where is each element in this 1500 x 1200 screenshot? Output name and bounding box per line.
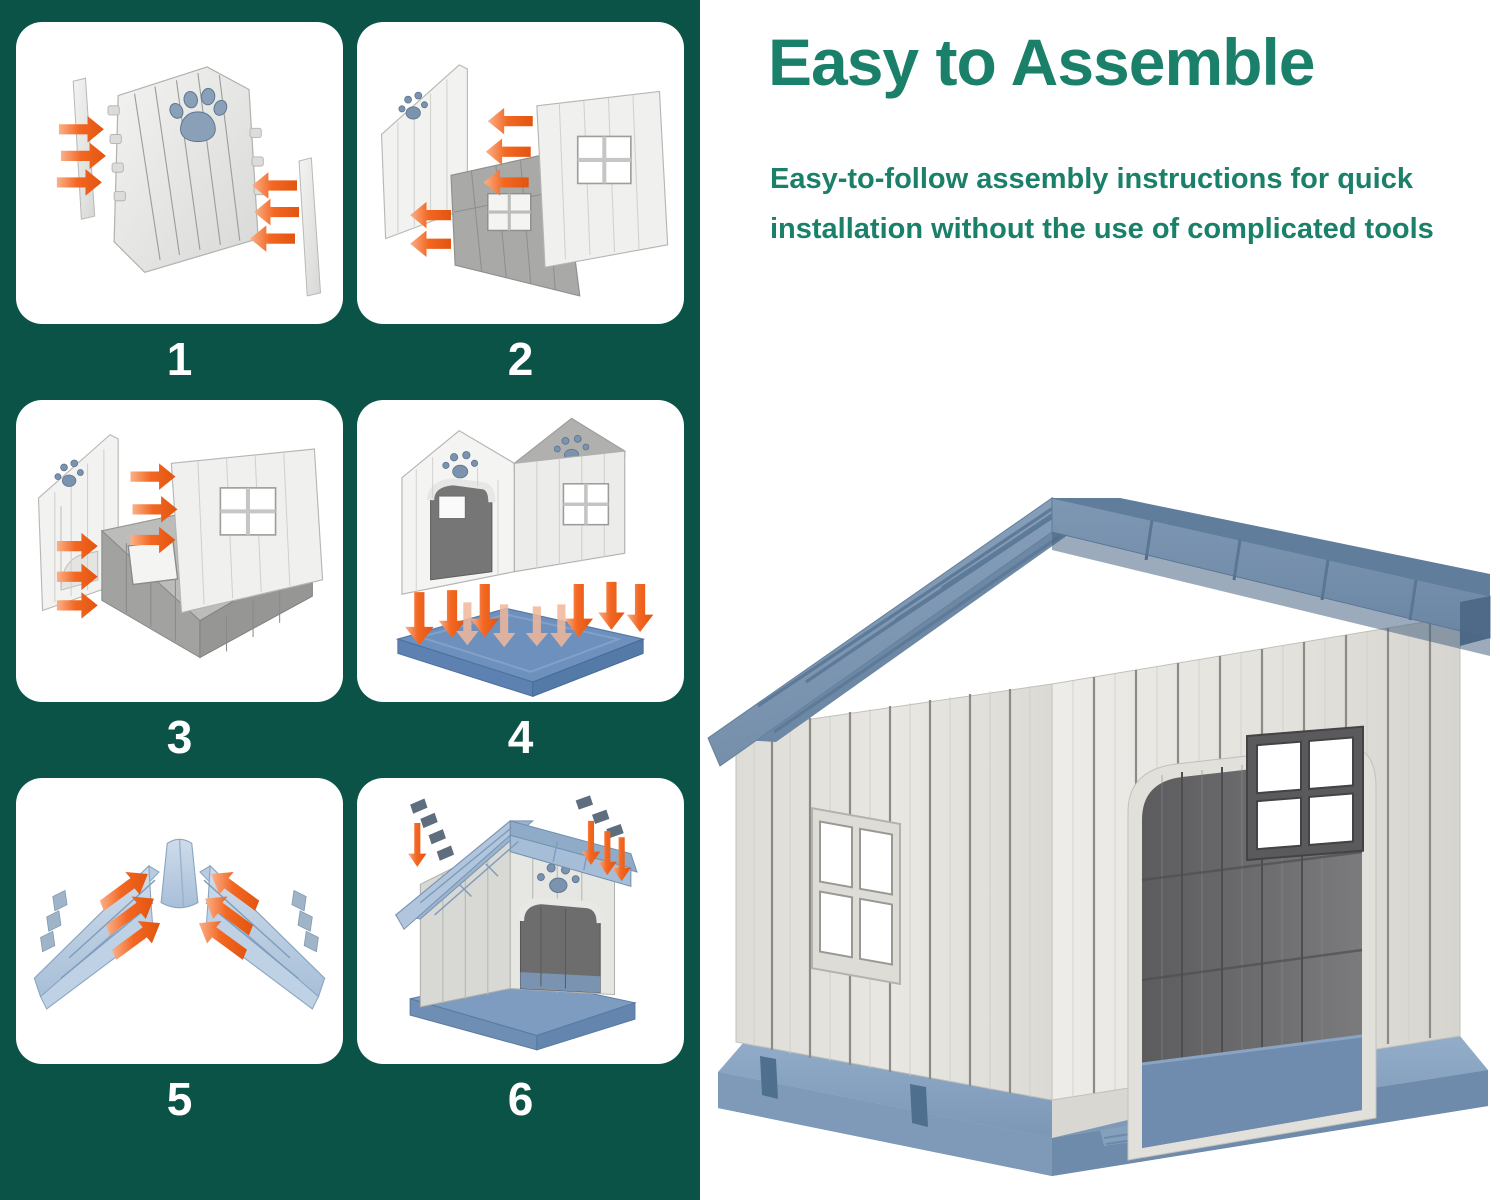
step-row-2: 3	[16, 400, 684, 760]
interior-window	[1247, 727, 1363, 860]
door-opening	[1128, 727, 1376, 1160]
step-card-5	[16, 778, 343, 1064]
roof-clips-right	[292, 890, 319, 951]
assembly-arrows-right	[250, 172, 299, 252]
assembled-walls	[402, 418, 625, 594]
step-row-3: 5	[16, 778, 684, 1122]
step-1-illustration	[16, 22, 343, 324]
step-2-illustration	[357, 22, 684, 324]
left-side-wall	[736, 684, 1052, 1100]
step-card-6	[357, 778, 684, 1064]
assembly-steps-panel: 1	[0, 0, 700, 1200]
step-6-illustration	[357, 778, 684, 1064]
page-title: Easy to Assemble	[768, 28, 1468, 97]
step-number-5: 5	[167, 1076, 193, 1122]
step-3-illustration	[16, 400, 343, 702]
step-number-3: 3	[167, 714, 193, 760]
step-number-1: 1	[167, 336, 193, 382]
step-card-4	[357, 400, 684, 702]
step-cell-5: 5	[16, 778, 343, 1122]
dog-house-illustration	[700, 470, 1500, 1200]
step-cell-3: 3	[16, 400, 343, 760]
step-cell-4: 4	[357, 400, 684, 760]
step-5-illustration	[16, 778, 343, 1064]
step-card-1	[16, 22, 343, 324]
step-card-2	[357, 22, 684, 324]
infographic-page: 1	[0, 0, 1500, 1200]
step-cell-1: 1	[16, 22, 343, 382]
step-cell-6: 6	[357, 778, 684, 1122]
hero-product-image	[700, 470, 1500, 1200]
step-number-4: 4	[508, 714, 534, 760]
roof-clips-left	[41, 890, 68, 951]
side-window	[812, 808, 900, 984]
assembly-arrows-left	[57, 116, 106, 196]
step-row-1: 1	[16, 22, 684, 382]
step-number-6: 6	[508, 1076, 534, 1122]
roof-ridge-cap	[161, 839, 198, 907]
page-subtitle: Easy-to-follow assembly instructions for…	[770, 155, 1470, 255]
side-wall-with-window	[537, 91, 668, 267]
side-rail-right	[299, 158, 320, 296]
step-4-illustration	[357, 400, 684, 702]
step-cell-2: 2	[357, 22, 684, 382]
step-card-3	[16, 400, 343, 702]
step-number-2: 2	[508, 336, 534, 382]
